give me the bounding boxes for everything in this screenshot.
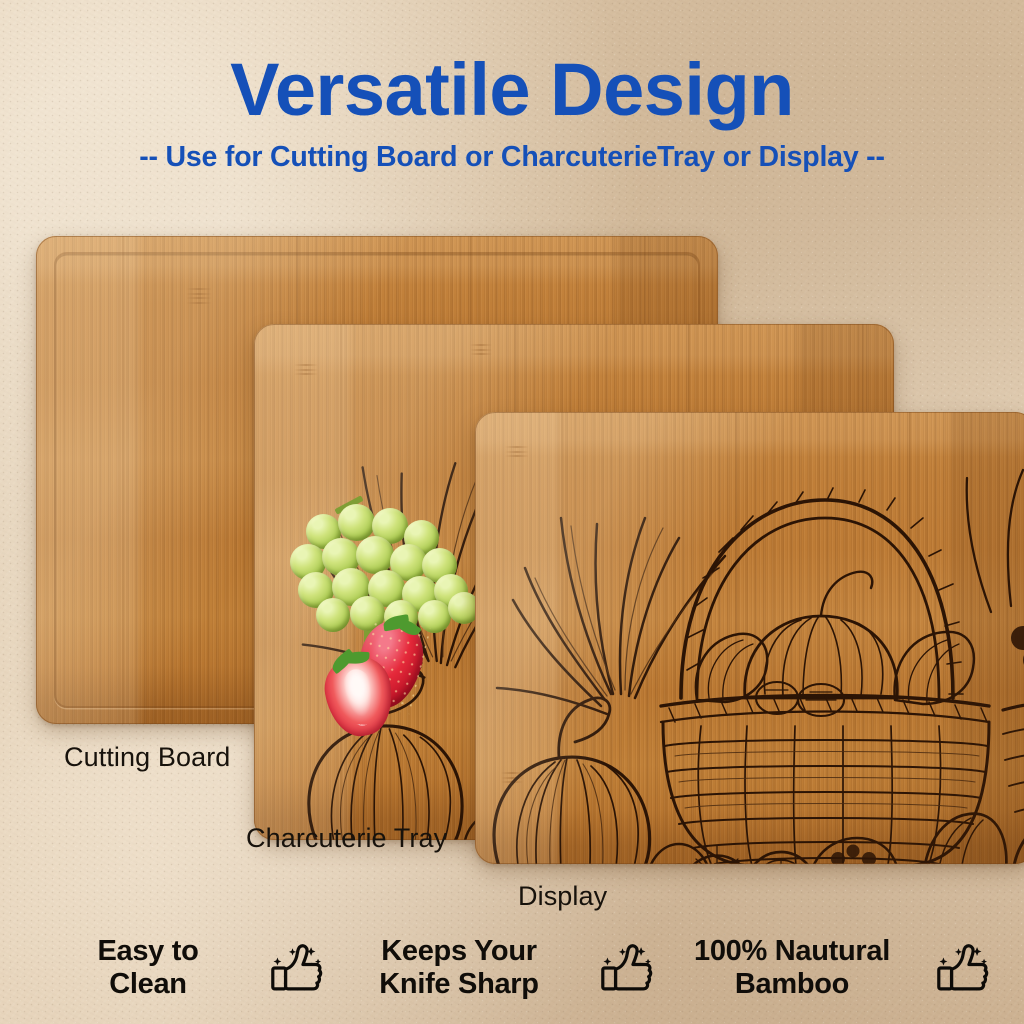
- label-charcuterie-tray: Charcuterie Tray: [246, 823, 447, 854]
- feature-line-2: Bamboo: [655, 968, 929, 1002]
- thumbs-up-sparkle-icon: [933, 939, 991, 997]
- feature-label: Easy to Clean: [33, 935, 263, 1002]
- feature-easy-to-clean: Easy to Clean: [33, 935, 325, 1002]
- feature-keeps-knife-sharp: Keeps Your Knife Sharp: [325, 935, 655, 1002]
- feature-line-1: Easy to: [33, 935, 263, 969]
- strawberry-halved-photo: [320, 651, 399, 741]
- product-infographic: Versatile Design -- Use for Cutting Boar…: [0, 0, 1024, 1024]
- feature-line-2: Knife Sharp: [325, 968, 593, 1002]
- thumbs-up-sparkle-icon: [267, 939, 325, 997]
- feature-natural-bamboo: 100% Nautural Bamboo: [655, 935, 991, 1002]
- feature-line-1: Keeps Your: [325, 935, 593, 969]
- label-cutting-board: Cutting Board: [64, 742, 230, 773]
- page-title: Versatile Design: [0, 52, 1024, 127]
- board-edge: [475, 412, 1024, 864]
- thumbs-up-sparkle-icon: [597, 939, 655, 997]
- feature-line-1: 100% Nautural: [655, 935, 929, 969]
- page-subtitle: -- Use for Cutting Board or CharcuterieT…: [0, 141, 1024, 174]
- grape-cluster-photo: [272, 496, 492, 636]
- headline-block: Versatile Design -- Use for Cutting Boar…: [0, 52, 1024, 174]
- feature-line-2: Clean: [33, 968, 263, 1002]
- feature-label: Keeps Your Knife Sharp: [325, 935, 593, 1002]
- feature-label: 100% Nautural Bamboo: [655, 935, 929, 1002]
- board-display[interactable]: [475, 412, 1024, 864]
- feature-row: Easy to Clean Keeps Your Knife Sharp: [0, 935, 1024, 1002]
- label-display: Display: [518, 881, 607, 912]
